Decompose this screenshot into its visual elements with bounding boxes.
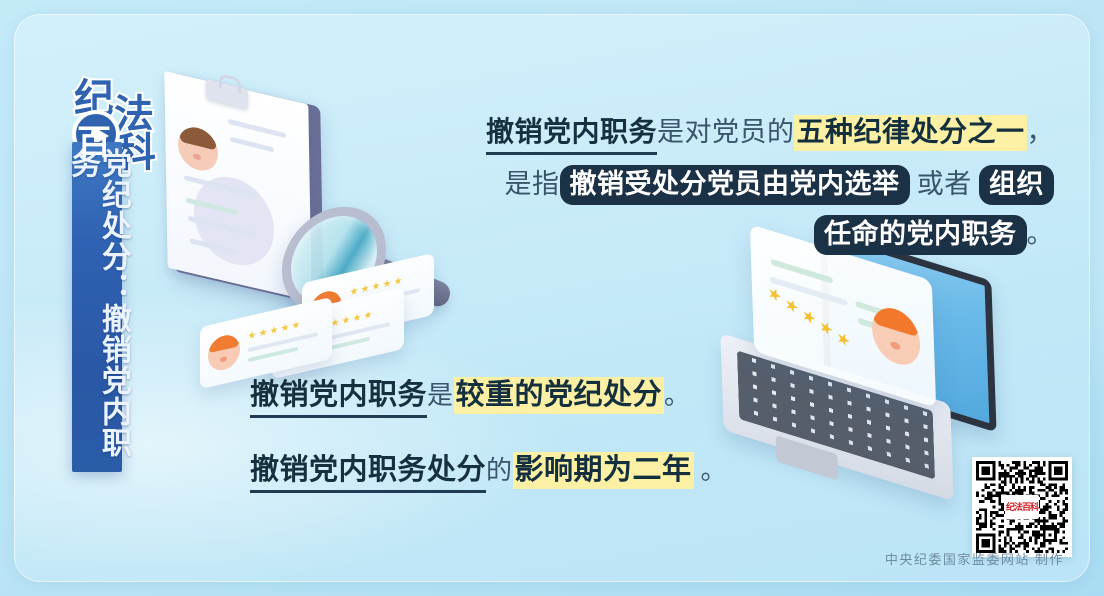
star-icon <box>361 284 369 294</box>
text-segment-plain: 。 <box>1027 219 1055 249</box>
text-segment-highlight: 五种纪律处分之一 <box>794 115 1026 151</box>
text-segment-underline: 撤销党内职务 <box>250 379 427 418</box>
text-segment-highlight: 较重的党纪处分 <box>454 377 665 414</box>
star-icon <box>259 328 267 338</box>
text-segment-plain: 。 <box>664 381 691 410</box>
text-segment-plain: ， <box>1027 117 1055 147</box>
text-segment-plain: 。 <box>694 456 728 485</box>
star-icon <box>292 320 300 330</box>
star-icon <box>394 276 402 286</box>
logo-char-bai: 百 <box>77 115 111 164</box>
text-segment-plain: 是 <box>427 381 454 410</box>
text-segment-plain: 是对党员的 <box>657 117 795 147</box>
star-icon <box>281 323 289 333</box>
text-line: 撤销党内职务是对党员的五种纪律处分之一， <box>434 114 1054 152</box>
credit-text: 中央纪委国家监委网站 制作 <box>885 549 1064 568</box>
text-segment-plain: 或者 <box>910 169 980 199</box>
text-segment-underline: 撤销党内职务处分 <box>250 454 486 493</box>
avatar <box>208 332 240 373</box>
text-line: 撤销党内职务是较重的党纪处分。 <box>250 376 770 415</box>
text-line: 是指撤销受处分党员由党内选举 或者 组织 <box>434 166 1054 202</box>
star-icon <box>350 286 358 296</box>
qr-code[interactable]: 纪法百科 <box>972 457 1072 557</box>
star-icon <box>766 285 782 304</box>
star-icon <box>270 325 278 335</box>
banner-title-text: 党纪处分：撤销党内职务 <box>66 148 128 472</box>
vertical-title-banner: 党纪处分：撤销党内职务 <box>72 142 122 472</box>
text-segment-plain: 的 <box>486 456 513 485</box>
star-icon <box>353 313 361 323</box>
main-text-block-top: 撤销党内职务是对党员的五种纪律处分之一，是指撤销受处分党员由党内选举 或者 组织… <box>434 114 1054 266</box>
text-segment-pill: 组织 <box>979 165 1054 205</box>
text-line: 任命的党内职务。 <box>434 216 1054 252</box>
text-segment-underline: 撤销党内职务 <box>486 117 657 155</box>
star-icon <box>342 315 350 325</box>
text-segment-plain: 是指 <box>505 169 560 199</box>
text-segment-highlight: 影响期为二年 <box>513 452 694 489</box>
text-segment-pill: 撤销受处分党员由党内选举 <box>560 165 910 205</box>
avatar <box>871 302 921 371</box>
star-icon <box>383 279 391 289</box>
star-icon <box>784 296 800 315</box>
main-text-block-bottom: 撤销党内职务是较重的党纪处分。撤销党内职务处分的影响期为二年 。 <box>250 376 770 526</box>
star-icon <box>818 319 834 338</box>
infographic-poster: 纪 法 科 百 党纪处分：撤销党内职务 <box>0 0 1104 596</box>
text-line: 撤销党内职务处分的影响期为二年 。 <box>250 451 770 490</box>
star-icon <box>801 307 817 326</box>
clipboard-illustration <box>154 80 434 380</box>
star-icon <box>364 310 372 320</box>
text-segment-pill: 任命的党内职务 <box>814 215 1027 255</box>
star-icon <box>372 281 380 291</box>
star-icon <box>331 318 339 328</box>
qr-center-logo: 纪法百科 <box>1005 495 1039 519</box>
poster-frame: 纪 法 科 百 党纪处分：撤销党内职务 <box>14 14 1090 582</box>
star-icon <box>248 330 256 340</box>
star-icon <box>835 330 851 349</box>
